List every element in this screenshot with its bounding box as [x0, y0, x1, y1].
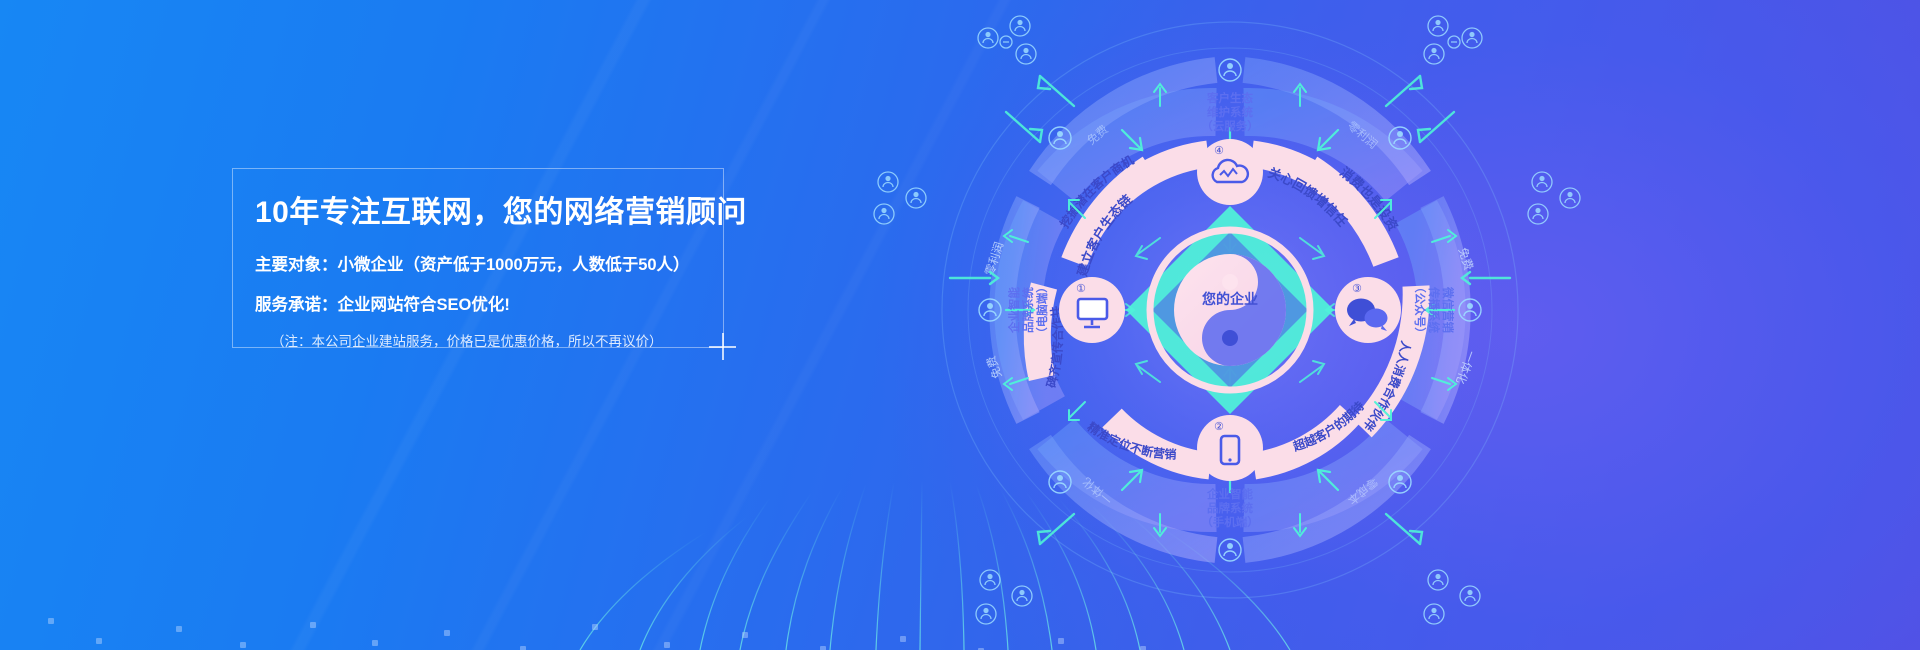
ecosystem-infographic: 免费 零利润 零利润 免费 免费 一体化 一体化 零成本	[860, 10, 1600, 650]
page-title: 10年专注互联网，您的网络营销顾问	[255, 195, 713, 231]
node-wechat[interactable]: ③	[1335, 277, 1401, 343]
node-mobile[interactable]: ②	[1197, 415, 1263, 481]
svg-text:微信营销传播系统（公众号）: 微信营销传播系统（公众号）	[1413, 281, 1455, 339]
banner-stage: 10年专注互联网，您的网络营销顾问 主要对象：小微企业（资产低于1000万元，人…	[0, 0, 1920, 650]
core-yinyang-icon	[1174, 254, 1286, 366]
node-monitor[interactable]: ①	[1059, 277, 1125, 343]
service-promise-line: 服务承诺：企业网站符合SEO优化!	[255, 293, 713, 318]
svg-text:客户生态维护系统（云服务）: 客户生态维护系统（云服务）	[1201, 91, 1259, 133]
core-label: 您的企业	[1202, 291, 1258, 307]
node-index-2: ②	[1214, 421, 1224, 433]
promo-text-box: 10年专注互联网，您的网络营销顾问 主要对象：小微企业（资产低于1000万元，人…	[232, 168, 724, 348]
node-monitor-label: 企业智能品牌系统（电脑端）	[1007, 281, 1049, 339]
node-index-1: ①	[1076, 283, 1086, 295]
node-cloud[interactable]: ④	[1197, 139, 1263, 205]
plus-corner-icon	[709, 333, 737, 361]
node-cloud-label: 客户生态维护系统（云服务）	[1201, 91, 1259, 133]
node-wechat-label: 微信营销传播系统（公众号）	[1413, 281, 1455, 339]
node-index-4: ④	[1214, 145, 1224, 157]
node-mobile-label: 企业智能品牌系统（手机端）	[1201, 487, 1259, 529]
svg-text:企业智能品牌系统（电脑端）: 企业智能品牌系统（电脑端）	[1007, 281, 1049, 339]
target-audience-line: 主要对象：小微企业（资产低于1000万元，人数低于50人）	[255, 253, 713, 278]
node-index-3: ③	[1352, 283, 1362, 295]
mobile-icon	[1228, 458, 1231, 461]
svg-text:企业智能品牌系统（手机端）: 企业智能品牌系统（手机端）	[1201, 487, 1259, 529]
price-note: （注：本公司企业建站服务，价格已是优惠价格，所以不再议价）	[271, 333, 713, 352]
